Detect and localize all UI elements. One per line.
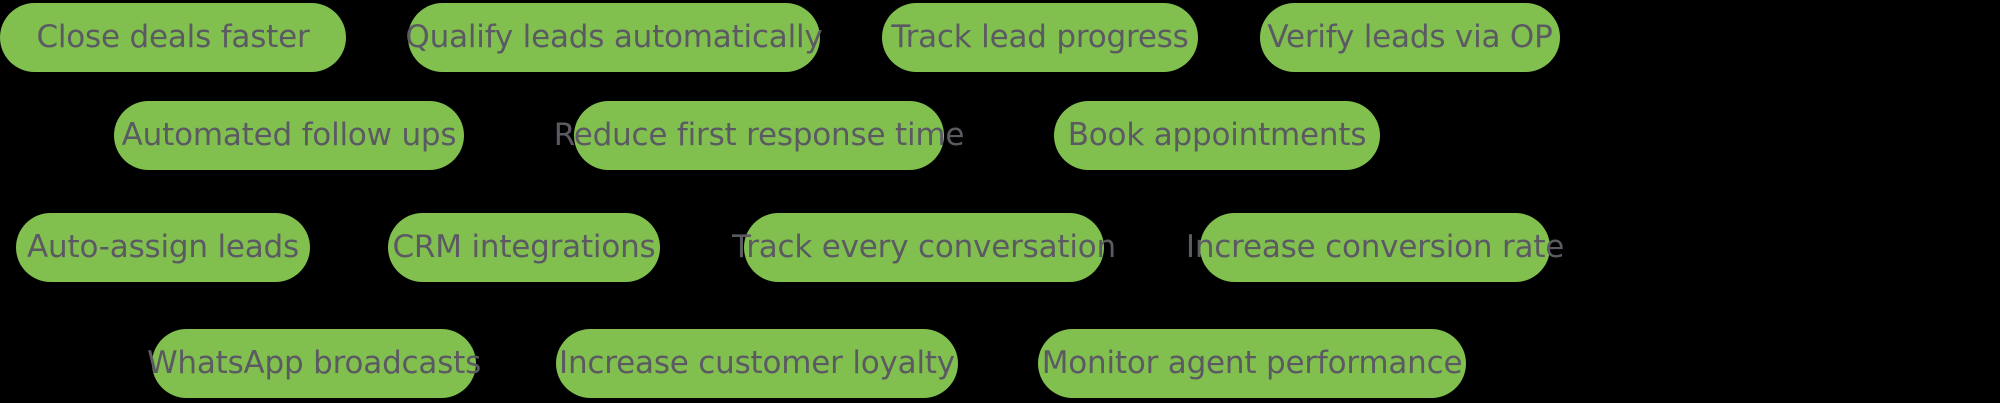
tag-label: Auto-assign leads [27,232,299,263]
tag-label: Verify leads via OP [1267,22,1552,53]
tag-pill-qualify-leads-automatically[interactable]: Qualify leads automatically [408,3,820,72]
tag-row-1: Close deals faster Qualify leads automat… [0,3,2000,72]
tag-label: Close deals faster [36,22,309,53]
tag-pill-crm-integrations[interactable]: CRM integrations [388,213,660,282]
tag-row-4: WhatsApp broadcasts Increase customer lo… [0,329,2000,398]
tag-pill-increase-conversion-rate[interactable]: Increase conversion rate [1200,213,1550,282]
tag-pill-monitor-agent-performance[interactable]: Monitor agent performance [1038,329,1466,398]
tag-board: Close deals faster Qualify leads automat… [0,0,2000,403]
tag-pill-track-lead-progress[interactable]: Track lead progress [882,3,1198,72]
tag-pill-reduce-first-response-time[interactable]: Reduce first response time [574,101,944,170]
tag-label: Reduce first response time [554,120,964,151]
tag-pill-book-appointments[interactable]: Book appointments [1054,101,1380,170]
tag-pill-verify-leads-via-op[interactable]: Verify leads via OP [1260,3,1560,72]
tag-label: Increase conversion rate [1186,232,1564,263]
tag-label: Track lead progress [891,22,1188,53]
tag-row-3: Auto-assign leads CRM integrations Track… [0,213,2000,282]
tag-label: Qualify leads automatically [405,22,822,53]
tag-label: WhatsApp broadcasts [147,348,481,379]
tag-pill-close-deals-faster[interactable]: Close deals faster [0,3,346,72]
tag-pill-whatsapp-broadcasts[interactable]: WhatsApp broadcasts [152,329,476,398]
tag-pill-increase-customer-loyalty[interactable]: Increase customer loyalty [556,329,958,398]
tag-pill-auto-assign-leads[interactable]: Auto-assign leads [16,213,310,282]
tag-row-2: Automated follow ups Reduce first respon… [0,101,2000,170]
tag-pill-automated-follow-ups[interactable]: Automated follow ups [114,101,464,170]
tag-label: Monitor agent performance [1042,348,1463,379]
tag-label: Track every conversation [732,232,1116,263]
tag-label: CRM integrations [392,232,655,263]
tag-label: Automated follow ups [122,120,457,151]
tag-pill-track-every-conversation[interactable]: Track every conversation [744,213,1104,282]
tag-label: Book appointments [1068,120,1367,151]
tag-label: Increase customer loyalty [559,348,955,379]
